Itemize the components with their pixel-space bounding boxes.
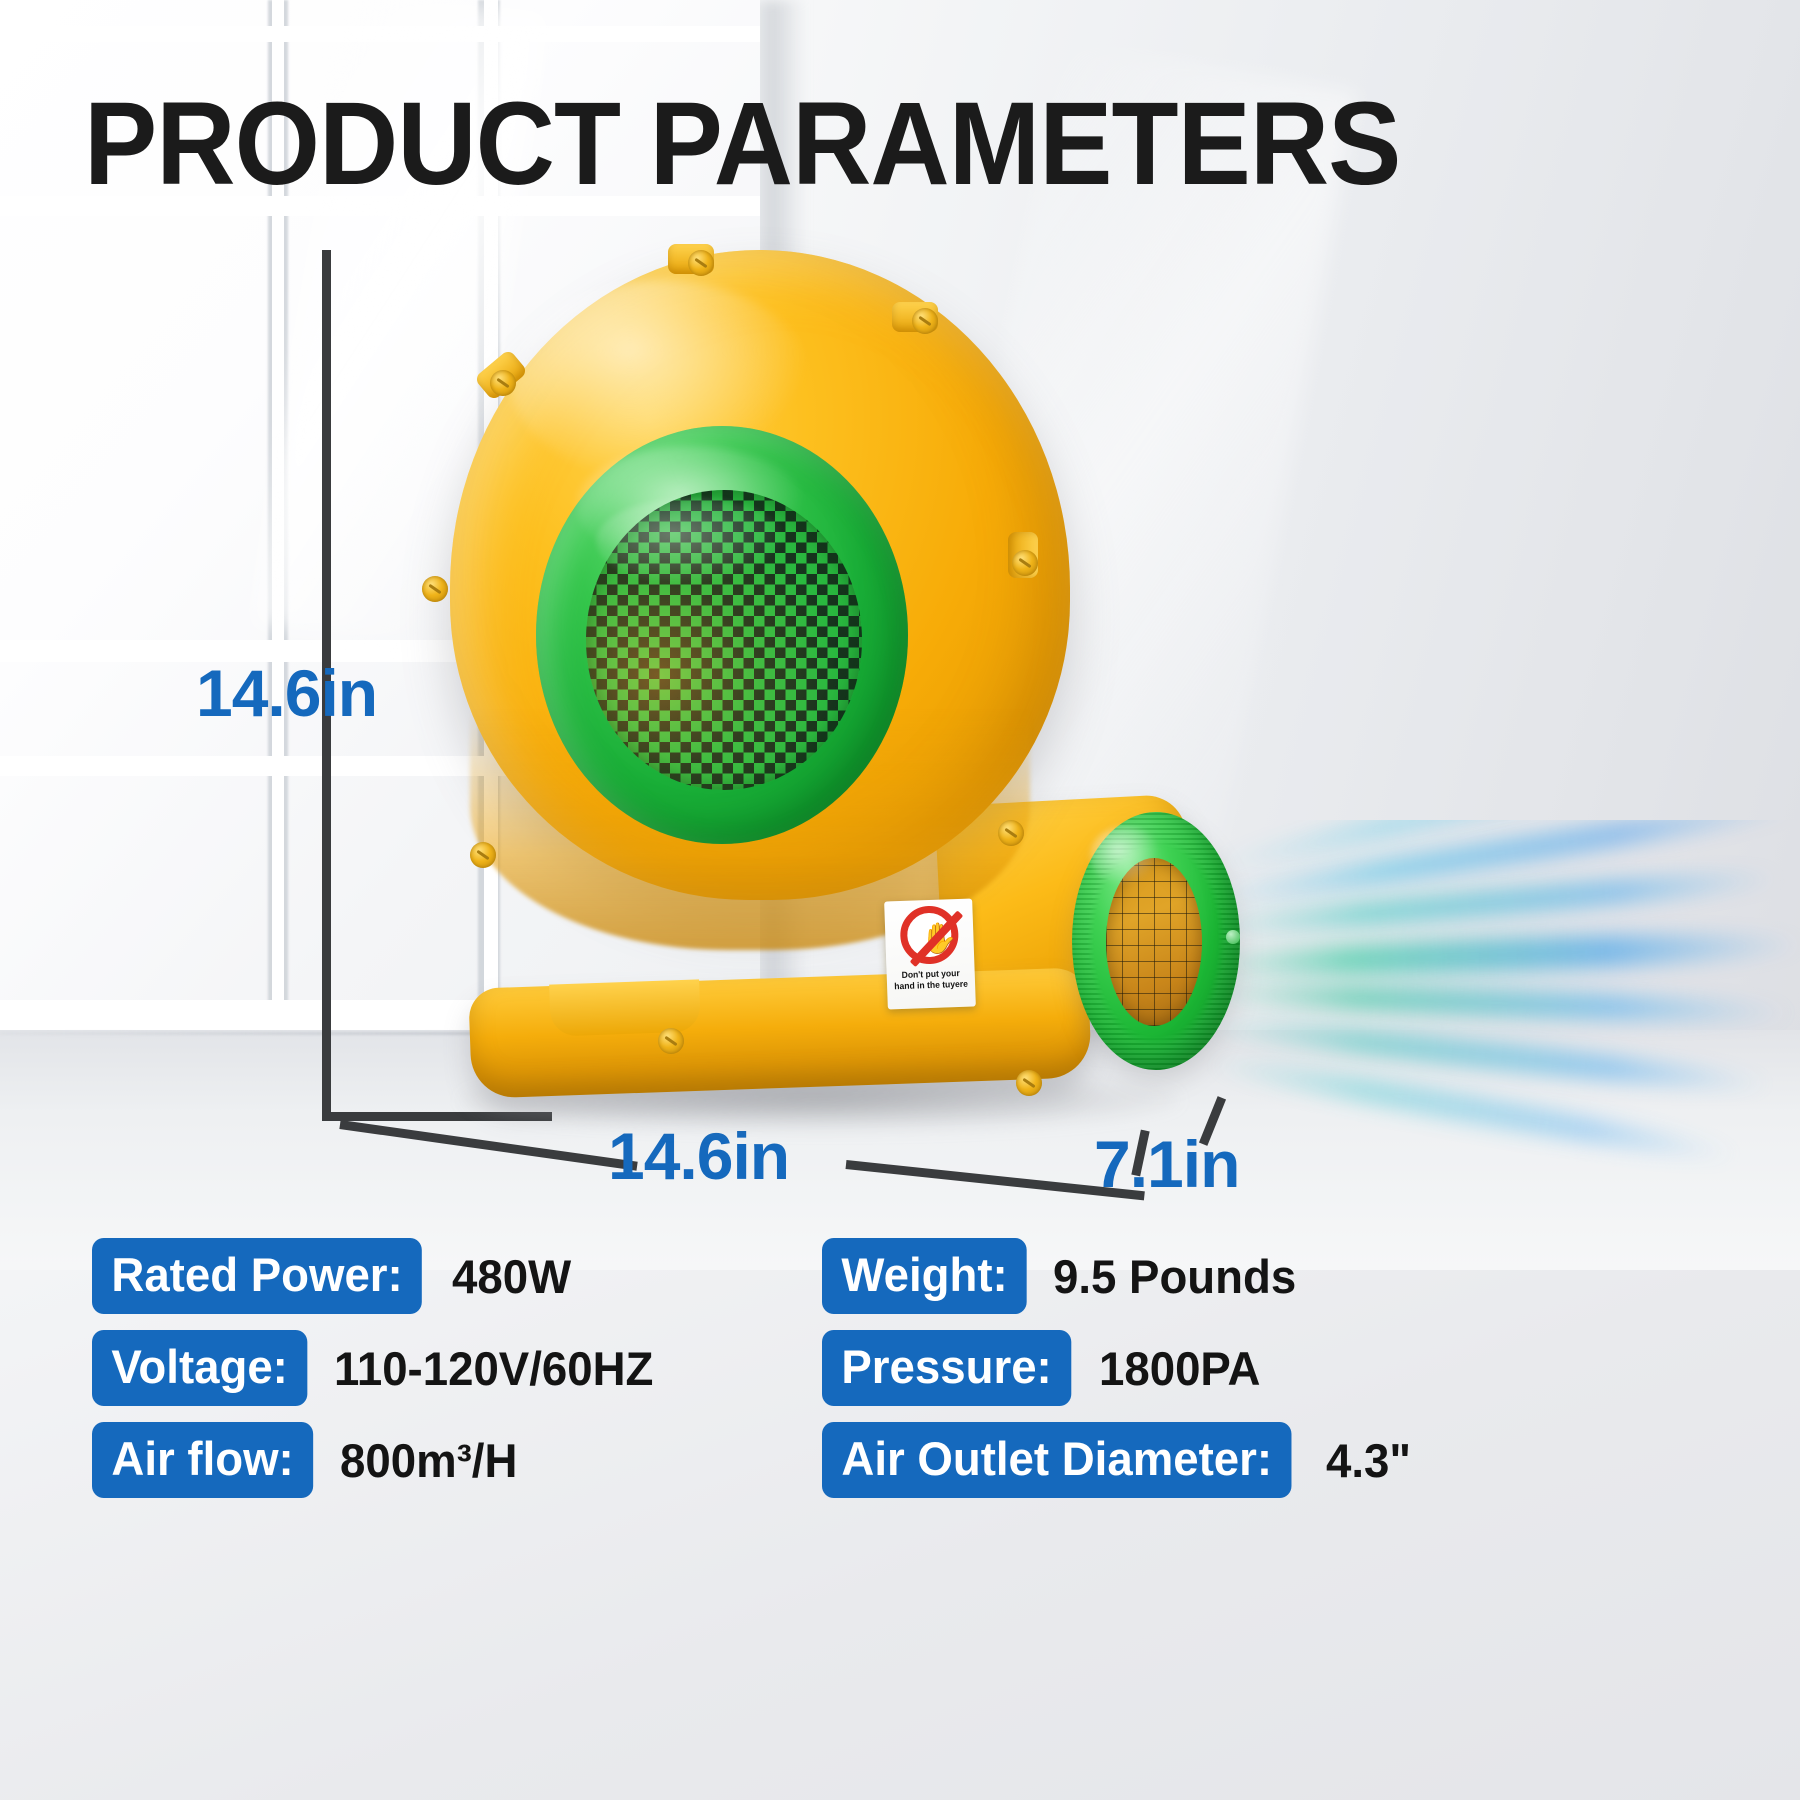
- spec-row: Rated Power: 480W Weight: 9.5 Pounds: [92, 1238, 1732, 1314]
- page-title: PRODUCT PARAMETERS: [84, 76, 1400, 212]
- spec-label-air-outlet-diameter: Air Outlet Diameter:: [822, 1422, 1291, 1498]
- product-blower: ✋ Don't put your hand in the tuyere: [400, 240, 1230, 1120]
- spec-value-rated-power: 480W: [452, 1253, 571, 1300]
- spec-item-air-outlet-diameter: Air Outlet Diameter: 4.3": [822, 1422, 1702, 1498]
- spec-row: Air flow: 800m³/H Air Outlet Diameter: 4…: [92, 1422, 1732, 1498]
- spec-item-weight: Weight: 9.5 Pounds: [822, 1238, 1702, 1314]
- warning-sticker: ✋ Don't put your hand in the tuyere: [884, 898, 976, 1009]
- housing-screw: [490, 370, 516, 396]
- housing-screw: [688, 250, 714, 276]
- air-outlet-screw: [1226, 930, 1240, 944]
- spec-item-voltage: Voltage: 110-120V/60HZ: [92, 1330, 822, 1406]
- spec-value-air-flow: 800m³/H: [340, 1437, 517, 1484]
- spec-item-rated-power: Rated Power: 480W: [92, 1238, 822, 1314]
- air-outlet-highlight: [1090, 826, 1160, 886]
- blower-intake-grille-highlight: [596, 498, 786, 584]
- blower-base-notch: [549, 979, 701, 1036]
- spec-item-air-flow: Air flow: 800m³/H: [92, 1422, 822, 1498]
- housing-screw: [912, 308, 938, 334]
- housing-screw: [470, 842, 496, 868]
- spec-label-pressure: Pressure:: [822, 1330, 1071, 1406]
- housing-screw: [998, 820, 1024, 846]
- dimension-label-height: 14.6in: [196, 655, 377, 731]
- warning-sticker-line2: hand in the tuyere: [890, 979, 972, 993]
- spec-label-air-flow: Air flow:: [92, 1422, 313, 1498]
- housing-screw: [1012, 550, 1038, 576]
- spec-value-voltage: 110-120V/60HZ: [334, 1345, 653, 1392]
- specification-table: Rated Power: 480W Weight: 9.5 Pounds Vol…: [92, 1238, 1732, 1514]
- base-screw: [658, 1028, 684, 1054]
- spec-value-pressure: 1800PA: [1099, 1345, 1260, 1392]
- spec-label-weight: Weight:: [822, 1238, 1027, 1314]
- airflow-streams: [1200, 820, 1800, 1270]
- spec-item-pressure: Pressure: 1800PA: [822, 1330, 1702, 1406]
- spec-row: Voltage: 110-120V/60HZ Pressure: 1800PA: [92, 1330, 1732, 1406]
- spec-value-weight: 9.5 Pounds: [1053, 1253, 1296, 1300]
- base-screw: [1016, 1070, 1042, 1096]
- airflow-stream: [1200, 865, 1780, 941]
- spec-label-voltage: Voltage:: [92, 1330, 307, 1406]
- airflow-stream: [1200, 928, 1800, 983]
- airflow-stream: [1200, 980, 1790, 1027]
- spec-label-rated-power: Rated Power:: [92, 1238, 422, 1314]
- spec-value-air-outlet-diameter: 4.3": [1326, 1437, 1411, 1484]
- no-hand-icon: ✋: [899, 905, 959, 965]
- housing-screw: [422, 576, 448, 602]
